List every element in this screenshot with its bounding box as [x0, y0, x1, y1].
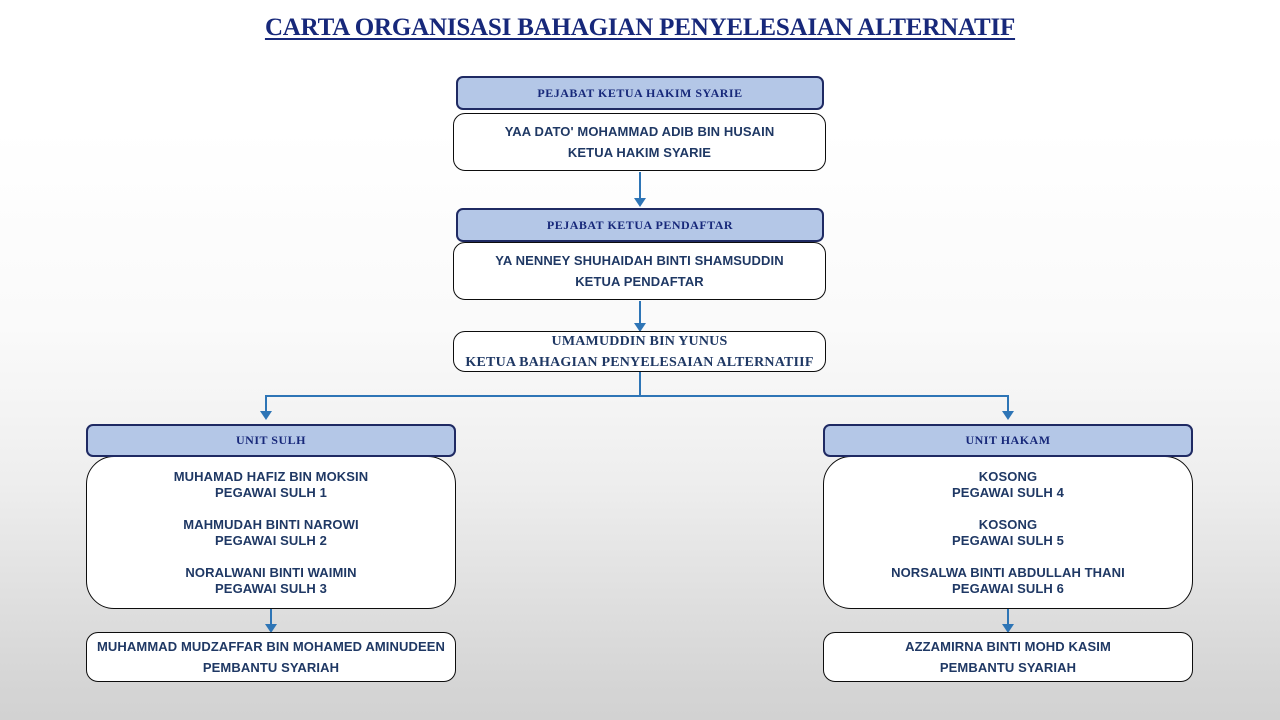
person-name: YAA DATO' MOHAMMAD ADIB BIN HUSAIN [505, 121, 775, 142]
person-position: KETUA HAKIM SYARIE [568, 142, 711, 163]
connector-arrow-to-unit-hakam [1002, 411, 1014, 420]
person-name: NORSALWA BINTI ABDULLAH THANI [891, 565, 1125, 581]
person-name: KOSONG [979, 517, 1037, 533]
person-name: KOSONG [979, 469, 1037, 485]
person-position: PEGAWAI SULH 3 [215, 581, 327, 597]
connector-line-hakim-to-pendaftar [639, 172, 641, 199]
person-position: KETUA BAHAGIAN PENYELESAIAN ALTERNATIIF [465, 352, 813, 373]
person-name: MUHAMAD HAFIZ BIN MOKSIN [174, 469, 369, 485]
person-position: PEGAWAI SULH 1 [215, 485, 327, 501]
node-body-pejabat-ketua-hakim-syarie[interactable]: YAA DATO' MOHAMMAD ADIB BIN HUSAIN KETUA… [453, 113, 826, 171]
person-name: MAHMUDAH BINTI NAROWI [183, 517, 358, 533]
connector-line-pendaftar-to-ketua-bahagian [639, 301, 641, 325]
node-body-pejabat-ketua-pendaftar[interactable]: YA NENNEY SHUHAIDAH BINTI SHAMSUDDIN KET… [453, 242, 826, 300]
node-header-pejabat-ketua-pendaftar[interactable]: PEJABAT KETUA PENDAFTAR [456, 208, 824, 242]
person-name: AZZAMIRNA BINTI MOHD KASIM [905, 636, 1111, 657]
person-name: UMAMUDDIN BIN YUNUS [552, 331, 728, 352]
person-position: PEGAWAI SULH 6 [952, 581, 1064, 597]
node-body-pembantu-syariah-sulh[interactable]: MUHAMMAD MUDZAFFAR BIN MOHAMED AMINUDEEN… [86, 632, 456, 682]
page-title: CARTA ORGANISASI BAHAGIAN PENYELESAIAN A… [0, 14, 1280, 42]
connector-arrow-hakim-to-pendaftar [634, 198, 646, 207]
node-header-unit-sulh[interactable]: UNIT SULH [86, 424, 456, 457]
person-position: PEMBANTU SYARIAH [940, 657, 1076, 678]
person-position: KETUA PENDAFTAR [575, 271, 704, 292]
person-position: PEGAWAI SULH 2 [215, 533, 327, 549]
node-body-ketua-bahagian-penyelesaian-alternatif[interactable]: UMAMUDDIN BIN YUNUS KETUA BAHAGIAN PENYE… [453, 331, 826, 372]
person-name: YA NENNEY SHUHAIDAH BINTI SHAMSUDDIN [495, 250, 783, 271]
connector-arrow-to-unit-sulh [260, 411, 272, 420]
connector-line-split-stem [639, 372, 641, 396]
node-body-pembantu-syariah-hakam[interactable]: AZZAMIRNA BINTI MOHD KASIM PEMBANTU SYAR… [823, 632, 1193, 682]
node-header-unit-hakam[interactable]: UNIT HAKAM [823, 424, 1193, 457]
person-name: MUHAMMAD MUDZAFFAR BIN MOHAMED AMINUDEEN [97, 636, 445, 657]
node-body-unit-sulh[interactable]: MUHAMAD HAFIZ BIN MOKSIN PEGAWAI SULH 1 … [86, 456, 456, 609]
person-position: PEGAWAI SULH 5 [952, 533, 1064, 549]
connector-line-split-bar [265, 395, 1009, 397]
person-position: PEMBANTU SYARIAH [203, 657, 339, 678]
org-chart-canvas: CARTA ORGANISASI BAHAGIAN PENYELESAIAN A… [0, 0, 1280, 720]
node-body-unit-hakam[interactable]: KOSONG PEGAWAI SULH 4 KOSONG PEGAWAI SUL… [823, 456, 1193, 609]
node-header-pejabat-ketua-hakim-syarie[interactable]: PEJABAT KETUA HAKIM SYARIE [456, 76, 824, 110]
person-name: NORALWANI BINTI WAIMIN [185, 565, 356, 581]
person-position: PEGAWAI SULH 4 [952, 485, 1064, 501]
